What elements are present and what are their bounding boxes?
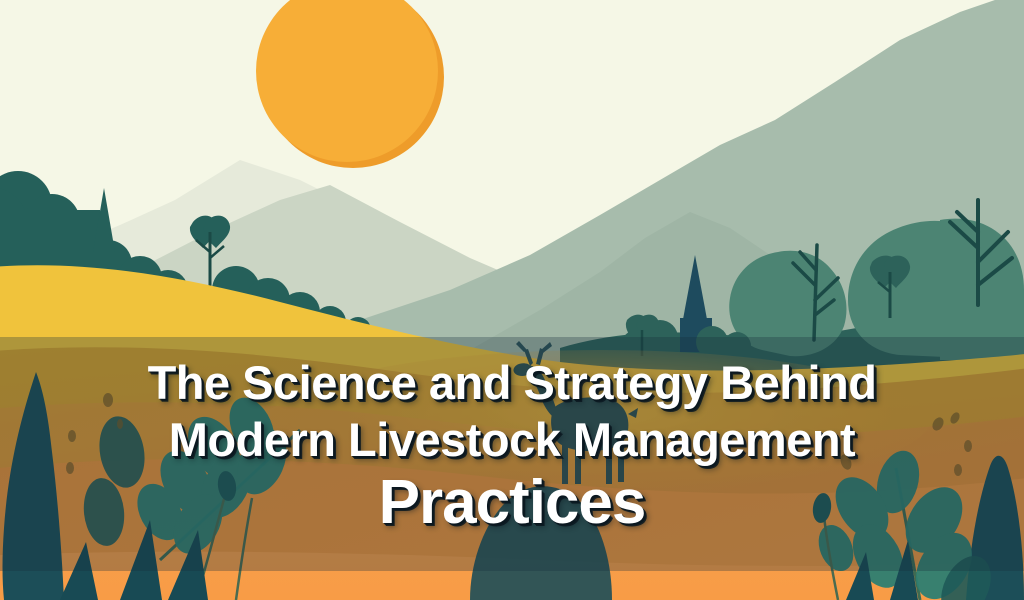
title-overlay-band: The Science and Strategy Behind Modern L… (0, 337, 1024, 571)
landscape-title-banner: The Science and Strategy Behind Modern L… (0, 0, 1024, 600)
title-line-3: Practices (379, 471, 646, 534)
title-line-2: Modern Livestock Management (169, 416, 855, 464)
title-line-1: The Science and Strategy Behind (148, 359, 877, 407)
